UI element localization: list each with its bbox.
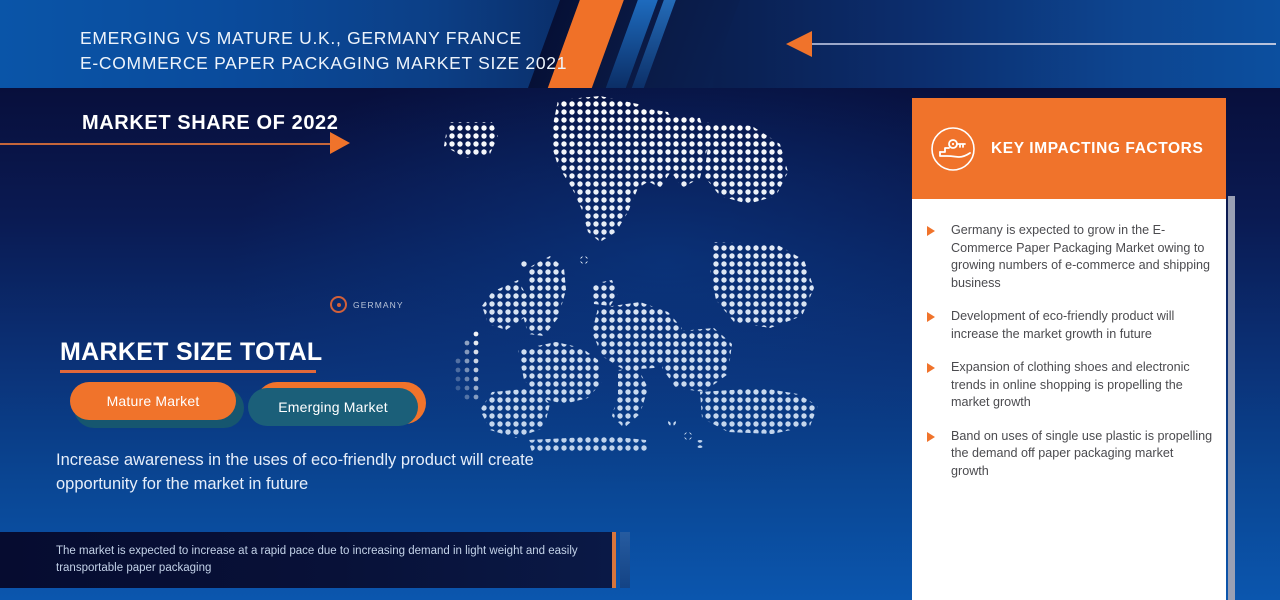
- market-size-title: MARKET SIZE TOTAL: [60, 338, 323, 367]
- key-factors-header: KEY IMPACTING FACTORS: [912, 98, 1226, 199]
- page-title-line-2: E-COMMERCE PAPER PACKAGING MARKET SIZE 2…: [80, 51, 700, 76]
- key-factors-heading: KEY IMPACTING FACTORS: [991, 140, 1203, 158]
- list-item-text: Development of eco-friendly product will…: [951, 308, 1213, 343]
- list-item: Expansion of clothing shoes and electron…: [927, 359, 1217, 412]
- market-size-underline: [60, 370, 316, 373]
- bullet-arrow-icon: [927, 226, 951, 236]
- legend-item-mature-market[interactable]: Mature Market: [70, 382, 236, 420]
- bullet-arrow-icon: [927, 363, 951, 373]
- legend-label-mature: Mature Market: [107, 393, 200, 409]
- page-title-line-1: EMERGING VS MATURE U.K., GERMANY FRANCE: [80, 26, 700, 51]
- bullet-arrow-icon: [927, 432, 951, 442]
- infographic-canvas: EMERGING VS MATURE U.K., GERMANY FRANCE …: [0, 0, 1280, 600]
- bottom-strip-accent-secondary: [620, 532, 630, 588]
- germany-marker-label: GERMANY: [353, 300, 404, 310]
- header-rule: [808, 43, 1276, 45]
- list-item: Band on uses of single use plastic is pr…: [927, 428, 1217, 481]
- legend-group: Mature Market Emerging Market: [58, 382, 478, 444]
- key-factors-panel-shadow: [1228, 196, 1235, 600]
- market-share-label: MARKET SHARE OF 2022: [82, 112, 339, 135]
- list-item-text: Expansion of clothing shoes and electron…: [951, 359, 1213, 412]
- list-item-text: Germany is expected to grow in the E-Com…: [951, 222, 1213, 292]
- list-item-text: Band on uses of single use plastic is pr…: [951, 428, 1213, 481]
- legend-item-emerging-market[interactable]: Emerging Market: [248, 388, 418, 426]
- legend-label-emerging: Emerging Market: [278, 399, 388, 415]
- bottom-strip-text: The market is expected to increase at a …: [56, 543, 596, 577]
- page-title: EMERGING VS MATURE U.K., GERMANY FRANCE …: [80, 26, 700, 76]
- list-item: Germany is expected to grow in the E-Com…: [927, 222, 1217, 292]
- location-target-icon: [330, 296, 347, 313]
- market-share-rule: [0, 143, 330, 145]
- list-item: Development of eco-friendly product will…: [927, 308, 1217, 343]
- market-size-note: Increase awareness in the uses of eco-fr…: [56, 448, 616, 496]
- europe-dot-map: [432, 92, 872, 452]
- header-band: EMERGING VS MATURE U.K., GERMANY FRANCE …: [0, 0, 1280, 88]
- bottom-strip-accent: [612, 532, 616, 588]
- bullet-arrow-icon: [927, 312, 951, 322]
- germany-map-marker: GERMANY: [330, 296, 404, 313]
- key-factors-list: Germany is expected to grow in the E-Com…: [927, 222, 1217, 496]
- hand-holding-key-icon: [929, 125, 977, 173]
- arrow-left-icon: [786, 31, 812, 57]
- arrow-right-icon: [330, 132, 350, 154]
